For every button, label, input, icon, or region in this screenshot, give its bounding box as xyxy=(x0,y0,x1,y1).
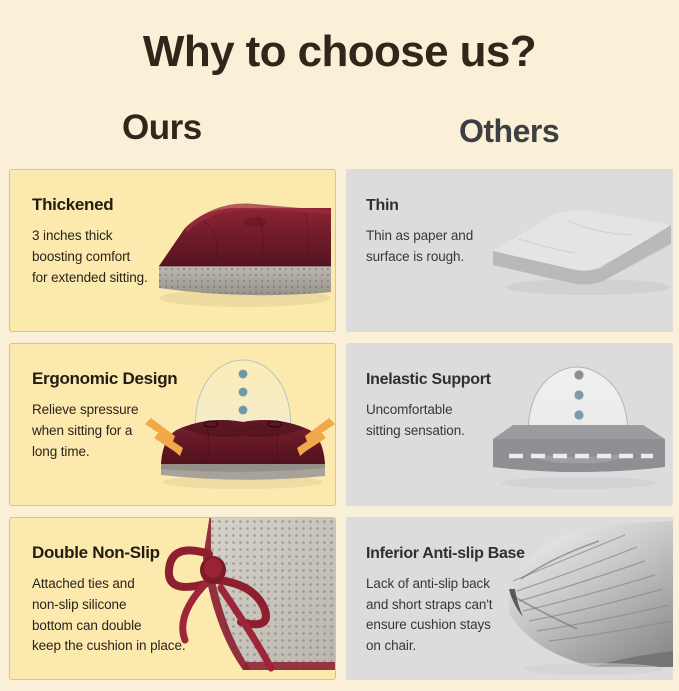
comparison-row: Thickened 3 inches thick boosting comfor… xyxy=(9,169,672,332)
card-body: 3 inches thick boosting comfort for exte… xyxy=(32,226,217,289)
card-body: Uncomfortable sitting sensation. xyxy=(366,400,546,442)
card-text: Inelastic Support Uncomfortable sitting … xyxy=(366,371,546,441)
card-text: Thickened 3 inches thick boosting comfor… xyxy=(32,196,217,288)
comparison-infographic: Why to choose us? Ours Others Thickened … xyxy=(0,0,679,679)
card-title: Thickened xyxy=(32,196,217,215)
card-title: Inelastic Support xyxy=(366,371,546,389)
card-body: Relieve spressure when sitting for a lon… xyxy=(32,400,217,463)
others-card-thin: Thin Thin as paper and surface is rough. xyxy=(346,169,673,332)
others-card-inferior-anti-slip-base: Inferior Anti-slip Base Lack of anti-sli… xyxy=(346,517,673,680)
card-text: Inferior Anti-slip Base Lack of anti-sli… xyxy=(366,545,546,657)
comparison-row: Double Non-Slip Attached ties and non-sl… xyxy=(9,517,672,680)
comparison-row: Ergonomic Design Relieve spressure when … xyxy=(9,343,672,506)
card-body: Thin as paper and surface is rough. xyxy=(366,226,546,268)
ours-card-ergonomic-design: Ergonomic Design Relieve spressure when … xyxy=(9,343,336,506)
ours-card-double-non-slip: Double Non-Slip Attached ties and non-sl… xyxy=(9,517,336,680)
ours-card-thickened: Thickened 3 inches thick boosting comfor… xyxy=(9,169,336,332)
card-body: Attached ties and non-slip silicone bott… xyxy=(32,574,217,658)
page-title: Why to choose us? xyxy=(0,27,679,77)
card-title: Double Non-Slip xyxy=(32,544,217,563)
card-body: Lack of anti-slip back and short straps … xyxy=(366,574,546,658)
card-text: Ergonomic Design Relieve spressure when … xyxy=(32,370,217,462)
comparison-grid: Thickened 3 inches thick boosting comfor… xyxy=(9,169,672,691)
card-title: Inferior Anti-slip Base xyxy=(366,545,546,563)
card-text: Thin Thin as paper and surface is rough. xyxy=(366,197,546,267)
others-card-inelastic-support: Inelastic Support Uncomfortable sitting … xyxy=(346,343,673,506)
card-title: Ergonomic Design xyxy=(32,370,217,389)
card-text: Double Non-Slip Attached ties and non-sl… xyxy=(32,544,217,657)
card-title: Thin xyxy=(366,197,546,215)
column-header-others: Others xyxy=(459,113,559,150)
column-header-ours: Ours xyxy=(122,108,202,148)
